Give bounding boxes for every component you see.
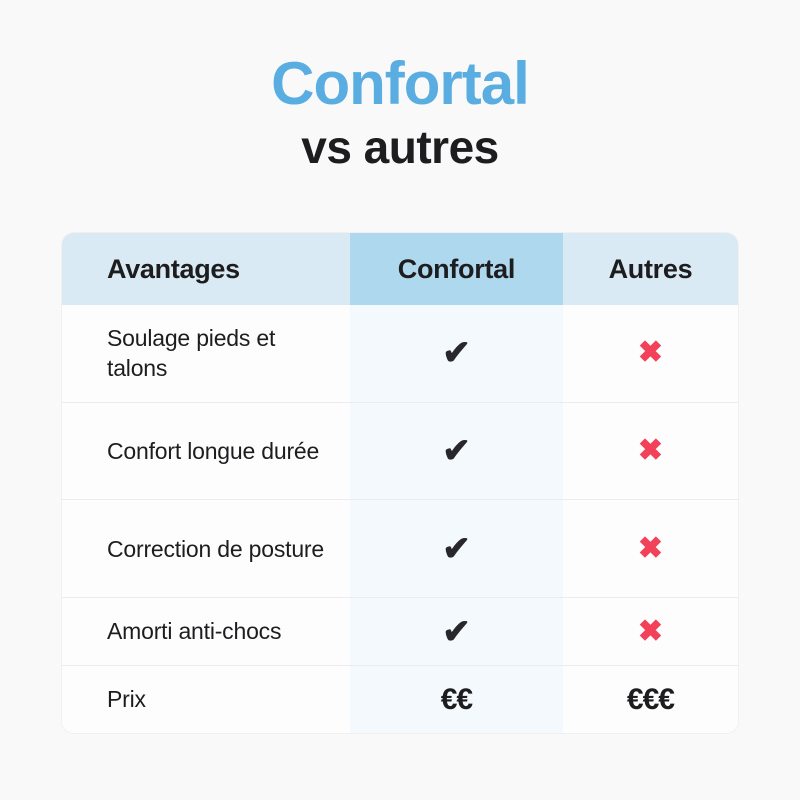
column-header-features: Avantages [62, 233, 350, 305]
feature-label: Soulage pieds et talons [62, 305, 350, 402]
comparison-table: Avantages Confortal Autres Soulage pieds… [62, 233, 738, 733]
feature-label: Prix [62, 666, 350, 733]
others-value-cell: ✖ [563, 598, 738, 666]
cross-icon: ✖ [638, 436, 663, 466]
table-body: Soulage pieds et talons ✔ ✖ Confort long… [62, 305, 738, 733]
confortal-value-cell: ✔ [350, 598, 563, 666]
table-row: Correction de posture ✔ ✖ [62, 500, 738, 598]
others-value-cell: ✖ [563, 305, 738, 402]
confortal-value-cell: ✔ [350, 500, 563, 598]
feature-label: Amorti anti-chocs [62, 598, 350, 666]
others-value-cell: €€€ [563, 666, 738, 733]
cross-icon: ✖ [638, 617, 663, 647]
table-header-row: Avantages Confortal Autres [62, 233, 738, 305]
page-title-subtitle: vs autres [0, 121, 800, 174]
confortal-value-cell: €€ [350, 666, 563, 733]
confortal-value-cell: ✔ [350, 402, 563, 500]
check-icon: ✔ [442, 532, 471, 566]
confortal-value-cell: ✔ [350, 305, 563, 402]
check-icon: ✔ [442, 615, 471, 649]
column-header-confortal: Confortal [350, 233, 563, 305]
comparison-table-container: Avantages Confortal Autres Soulage pieds… [62, 233, 738, 733]
comparison-page: Confortal vs autres Avantages Confortal … [0, 0, 800, 800]
table-row: Prix €€ €€€ [62, 666, 738, 733]
others-value-cell: ✖ [563, 500, 738, 598]
page-title-brand: Confortal [0, 52, 800, 115]
table-row: Confort longue durée ✔ ✖ [62, 402, 738, 500]
feature-label: Correction de posture [62, 500, 350, 598]
feature-label: Confort longue durée [62, 402, 350, 500]
table-row: Soulage pieds et talons ✔ ✖ [62, 305, 738, 402]
cross-icon: ✖ [638, 534, 663, 564]
check-icon: ✔ [442, 336, 471, 370]
table-row: Amorti anti-chocs ✔ ✖ [62, 598, 738, 666]
price-value-confortal: €€ [441, 685, 472, 715]
table-header: Avantages Confortal Autres [62, 233, 738, 305]
column-header-others: Autres [563, 233, 738, 305]
others-value-cell: ✖ [563, 402, 738, 500]
check-icon: ✔ [442, 434, 471, 468]
title-block: Confortal vs autres [0, 0, 800, 174]
cross-icon: ✖ [638, 338, 663, 368]
price-value-others: €€€ [627, 685, 674, 715]
